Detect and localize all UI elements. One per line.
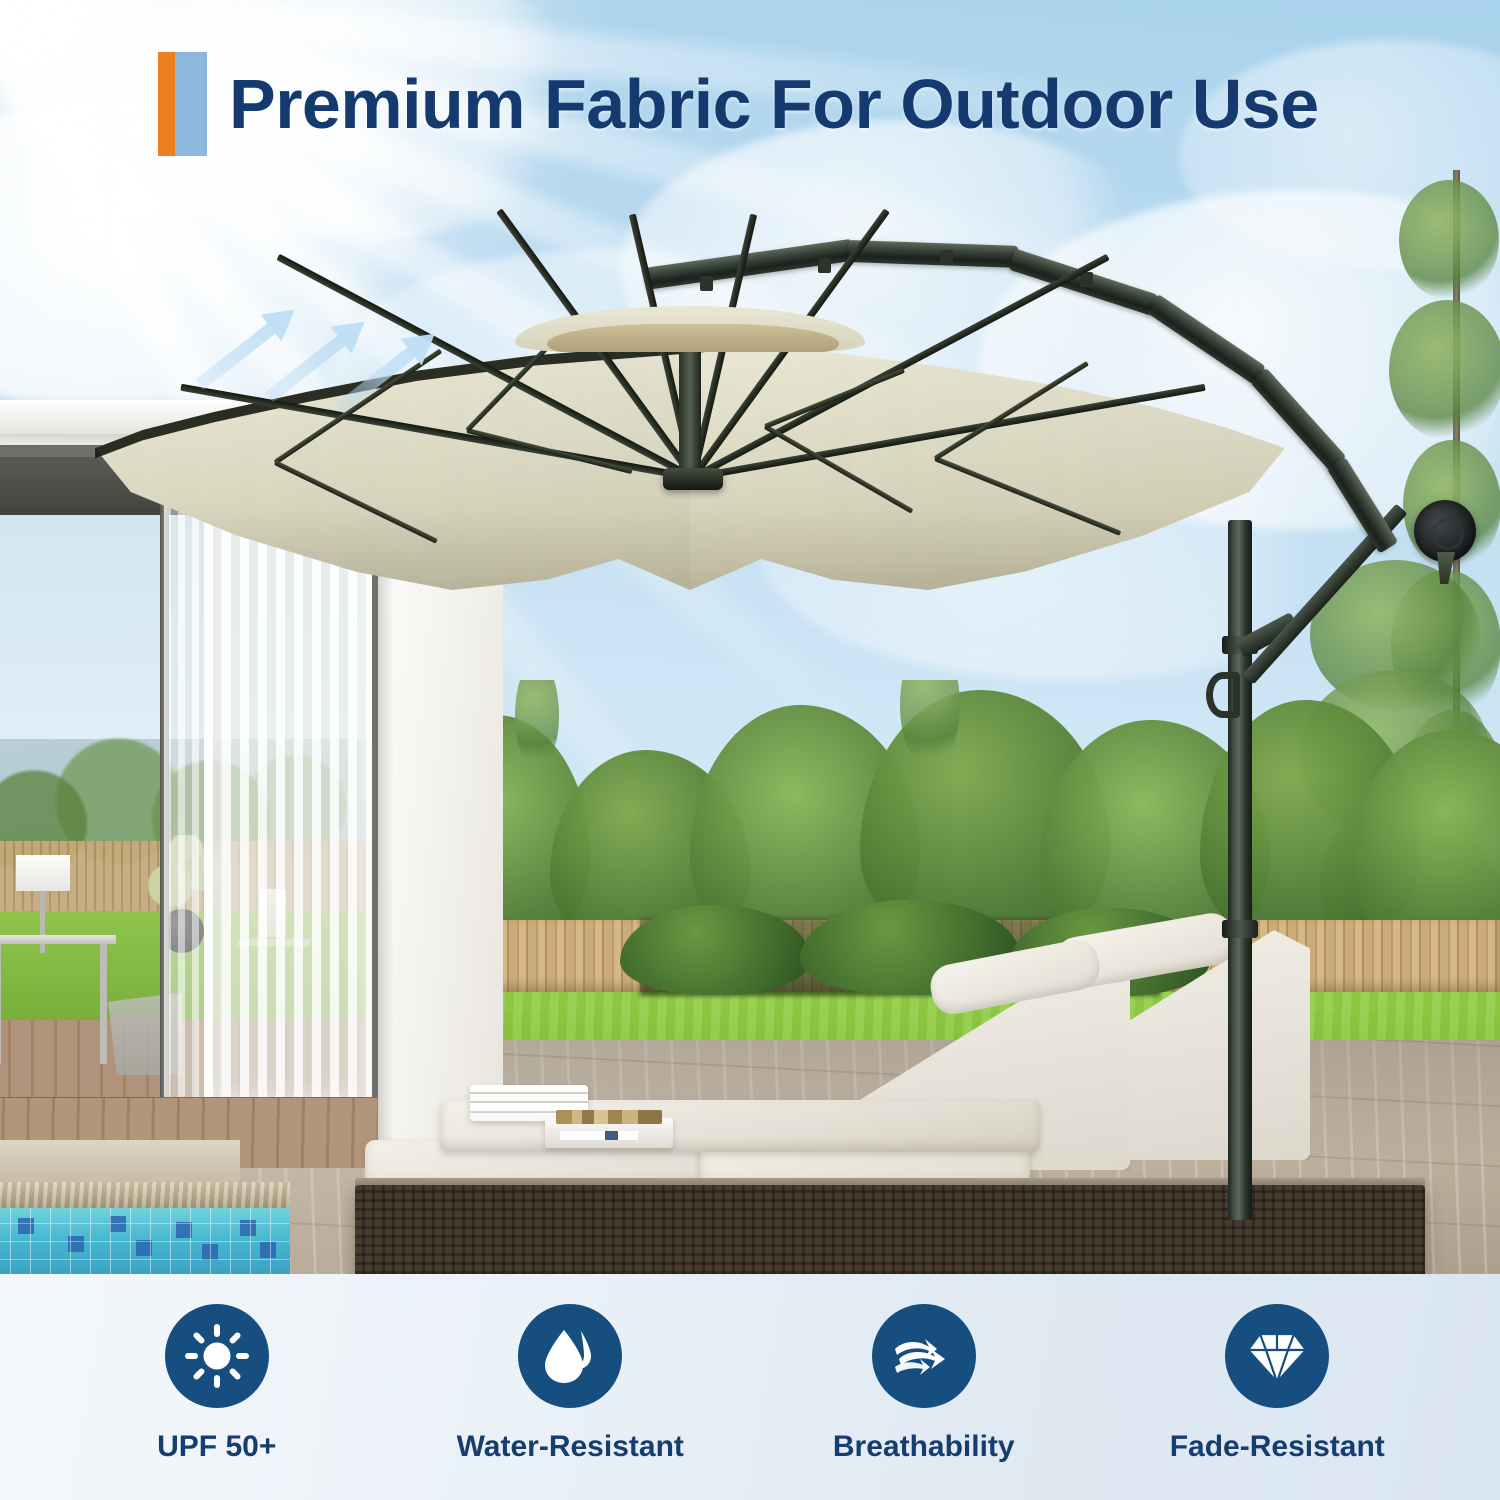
arrow-shaft xyxy=(265,330,352,402)
airflow-arrows xyxy=(195,280,445,430)
feature-label: UPF 50+ xyxy=(157,1430,276,1464)
diamond-icon-circle xyxy=(1225,1304,1329,1408)
product-infographic: Premium Fabric For Outdoor Use xyxy=(0,0,1500,1500)
page-title: Premium Fabric For Outdoor Use xyxy=(229,64,1319,144)
feature-upf: UPF 50+ xyxy=(82,1304,352,1464)
arrow-shaft xyxy=(335,342,422,414)
feature-bar: UPF 50+ Water-Resistant xyxy=(0,1274,1500,1500)
pole-joint xyxy=(1222,920,1258,938)
diamond-icon xyxy=(1243,1324,1311,1388)
airflow-icon-circle xyxy=(872,1304,976,1408)
feature-label: Water-Resistant xyxy=(457,1430,684,1464)
canopy-vent xyxy=(547,324,839,352)
sun-icon xyxy=(184,1323,250,1389)
cantilever-umbrella xyxy=(0,0,1500,1274)
feature-label: Fade-Resistant xyxy=(1170,1430,1385,1464)
accent-bar-blue xyxy=(175,52,207,156)
canopy-hub xyxy=(663,468,723,490)
feature-label: Breathability xyxy=(833,1430,1015,1464)
accent-bar-orange xyxy=(158,52,175,156)
airflow-icon xyxy=(889,1321,959,1391)
feature-fade-resistant: Fade-Resistant xyxy=(1142,1304,1412,1464)
canopy-center-post xyxy=(679,344,701,476)
crank-handle[interactable] xyxy=(1206,660,1248,730)
crank-ring xyxy=(1206,672,1240,718)
water-drop-icon-circle xyxy=(518,1304,622,1408)
umbrella-pole xyxy=(1228,520,1252,1220)
headline: Premium Fabric For Outdoor Use xyxy=(158,52,1319,156)
feature-water-resistant: Water-Resistant xyxy=(435,1304,705,1464)
feature-breathability: Breathability xyxy=(789,1304,1059,1464)
sun-icon-circle xyxy=(165,1304,269,1408)
knob-tab xyxy=(1437,552,1455,584)
cantilever-arm-segment xyxy=(848,240,1019,268)
arrow-shaft xyxy=(195,318,282,390)
arm-clip xyxy=(818,258,831,273)
hero-photo: Premium Fabric For Outdoor Use xyxy=(0,0,1500,1274)
arm-clip xyxy=(940,250,953,265)
arm-clip xyxy=(700,276,713,291)
water-drop-icon xyxy=(537,1323,603,1389)
